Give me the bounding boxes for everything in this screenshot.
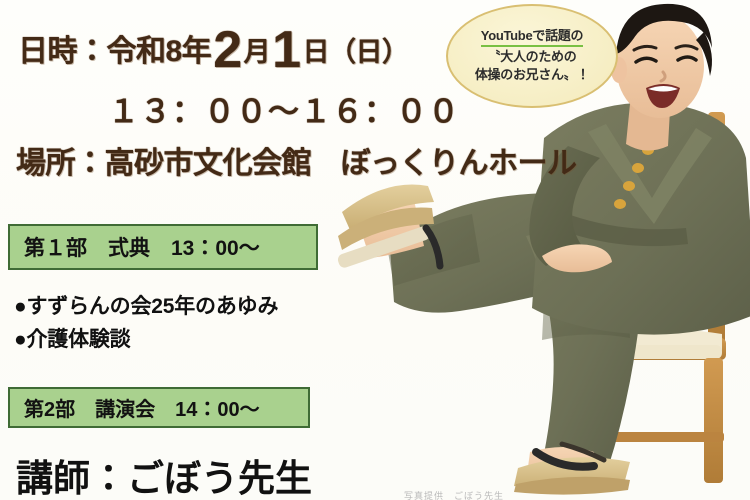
day-unit: 日 — [303, 37, 330, 67]
era-year: 令和8年 — [107, 35, 212, 68]
program-banner-part2-label: 第2部 講演会 14：00～ — [10, 393, 260, 422]
date-line: 日時：令和8年2月1日（日） — [18, 26, 409, 74]
list-item: ●介護体験談 — [14, 324, 278, 357]
day-number: 1 — [270, 21, 302, 79]
program-banner-part2: 第2部 講演会 14：00～ — [8, 387, 310, 428]
month-unit: 月 — [244, 37, 271, 67]
date-label: 日時： — [18, 35, 107, 68]
bubble-line-1: YouTubeで話題の — [481, 29, 583, 47]
youtube-callout-bubble: YouTubeで話題の 〝大人のための 体操のお兄さん〟！ — [446, 4, 618, 108]
time-range: １３：００～１６：００ — [108, 86, 460, 131]
lecturer-line: 講師：ごぼう先生 — [16, 448, 312, 500]
program-bullet-list: ●すずらんの会25年のあゆみ ●介護体験談 — [14, 291, 278, 356]
bubble-line-2: 〝大人のための — [488, 50, 577, 65]
weekday: （日） — [329, 37, 409, 67]
bubble-line-3: 体操のお兄さん〟！ — [475, 68, 589, 83]
list-item: ●すずらんの会25年のあゆみ — [14, 291, 278, 324]
photo-credit-text: 写真提供 ごぼう先生 — [404, 489, 504, 500]
month-number: 2 — [211, 21, 243, 79]
event-poster: 日時：令和8年2月1日（日） １３：００～１６：００ 場所：高砂市文化会館 ぼっ… — [0, 0, 750, 500]
venue-line: 場所：高砂市文化会館 ぼっくりんホール — [16, 138, 577, 182]
program-banner-part1: 第１部 式典 13：00～ — [8, 224, 318, 270]
program-banner-part1-label: 第１部 式典 13：00～ — [10, 232, 260, 262]
